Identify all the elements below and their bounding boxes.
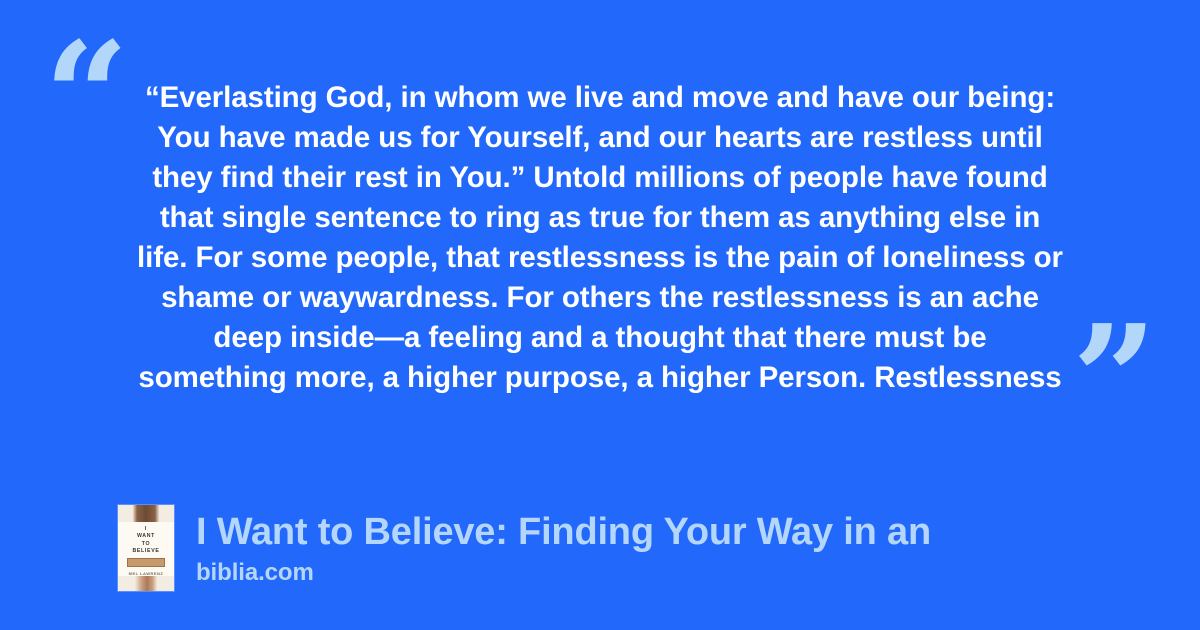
quote-line: deep inside—a feeling and a thought that… xyxy=(108,318,1092,358)
quote-line: shame or waywardness. For others the res… xyxy=(108,278,1092,318)
book-title[interactable]: I Want to Believe: Finding Your Way in a… xyxy=(196,511,931,553)
book-cover-top-image xyxy=(118,505,174,522)
book-cover-title-line: WANT xyxy=(118,533,174,540)
book-cover-band xyxy=(127,558,165,567)
quote-line: “Everlasting God, in whom we live and mo… xyxy=(108,78,1092,118)
quote-line: You have made us for Yourself, and our h… xyxy=(108,118,1092,158)
footer: I WANT TO BELIEVE MEL LAWRENZ I Want to … xyxy=(118,505,931,591)
quote-card: “ “Everlasting God, in whom we live and … xyxy=(0,0,1200,630)
quote-line: that single sentence to ring as true for… xyxy=(108,198,1092,238)
book-cover-title-line: TO xyxy=(118,541,174,548)
book-cover-bottom-image xyxy=(118,576,174,591)
book-cover-thumbnail[interactable]: I WANT TO BELIEVE MEL LAWRENZ xyxy=(118,505,174,591)
quote-line: they find their rest in You.” Untold mil… xyxy=(108,158,1092,198)
footer-text-block: I Want to Believe: Finding Your Way in a… xyxy=(196,505,931,587)
quote-text: “Everlasting God, in whom we live and mo… xyxy=(108,78,1092,398)
quote-line: something more, a higher purpose, a high… xyxy=(108,358,1092,398)
book-cover-title-line: BELIEVE xyxy=(118,548,174,555)
closing-quote-icon: ” xyxy=(1072,305,1157,453)
book-cover-title: I WANT TO BELIEVE xyxy=(118,526,174,556)
quote-line: life. For some people, that restlessness… xyxy=(108,238,1092,278)
book-cover-title-line: I xyxy=(118,526,174,533)
site-name[interactable]: biblia.com xyxy=(196,559,931,587)
